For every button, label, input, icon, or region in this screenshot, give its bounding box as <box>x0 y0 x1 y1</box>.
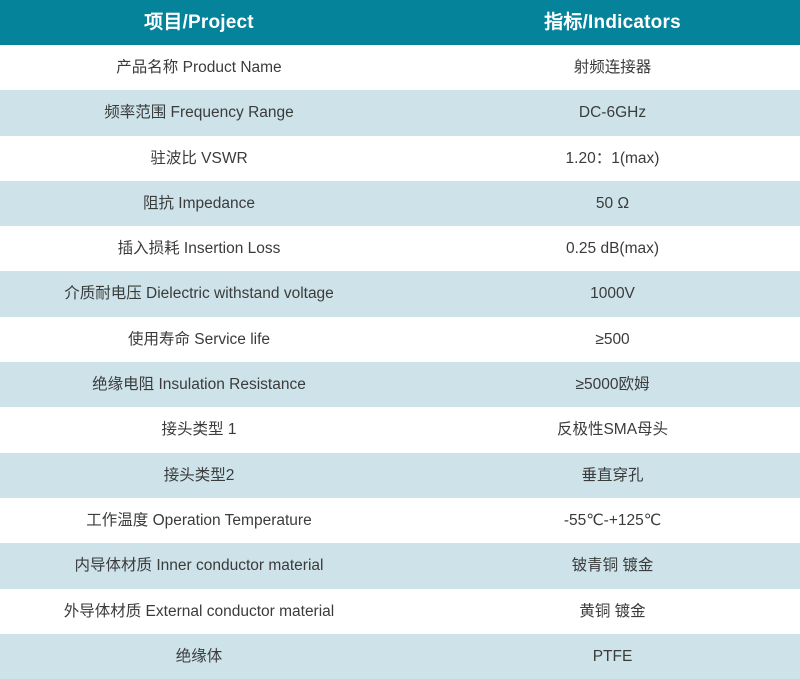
table-cell-indicator: 1000V <box>414 271 800 316</box>
column-divider <box>398 181 414 226</box>
table-row: 绝缘电阻 Insulation Resistance≥5000欧姆 <box>0 362 800 407</box>
table-cell-indicator: 铍青铜 镀金 <box>414 543 800 588</box>
table-cell-indicator: ≥500 <box>414 317 800 362</box>
table-row: 绝缘体PTFE <box>0 634 800 679</box>
table-header-row: 项目/Project 指标/Indicators <box>0 0 800 45</box>
table-cell-indicator: 0.25 dB(max) <box>414 226 800 271</box>
table-row: 接头类型2垂直穿孔 <box>0 453 800 498</box>
column-divider <box>398 226 414 271</box>
table-cell-indicator: 1.20：1(max) <box>414 136 800 181</box>
table-row: 产品名称 Product Name射频连接器 <box>0 45 800 90</box>
column-divider <box>398 589 414 634</box>
table-cell-indicator: ≥5000欧姆 <box>414 362 800 407</box>
table-header-cell-project: 项目/Project <box>0 0 398 45</box>
table-cell-project: 介质耐电压 Dielectric withstand voltage <box>0 271 398 316</box>
table-body: 产品名称 Product Name射频连接器频率范围 Frequency Ran… <box>0 45 800 679</box>
table-cell-indicator: 射频连接器 <box>414 45 800 90</box>
table-cell-indicator: PTFE <box>414 634 800 679</box>
table-row: 外导体材质 External conductor material黄铜 镀金 <box>0 589 800 634</box>
table-cell-project: 接头类型2 <box>0 453 398 498</box>
table-row: 插入损耗 Insertion Loss0.25 dB(max) <box>0 226 800 271</box>
table-cell-project: 产品名称 Product Name <box>0 45 398 90</box>
column-divider <box>398 453 414 498</box>
table-cell-indicator: DC-6GHz <box>414 90 800 135</box>
column-divider <box>398 498 414 543</box>
table-cell-project: 工作温度 Operation Temperature <box>0 498 398 543</box>
table-cell-project: 绝缘体 <box>0 634 398 679</box>
column-divider <box>398 317 414 362</box>
table-cell-indicator: 黄铜 镀金 <box>414 589 800 634</box>
table-cell-project: 使用寿命 Service life <box>0 317 398 362</box>
table-row: 驻波比 VSWR1.20：1(max) <box>0 136 800 181</box>
column-divider <box>398 90 414 135</box>
table-row: 频率范围 Frequency RangeDC-6GHz <box>0 90 800 135</box>
table-row: 接头类型 1反极性SMA母头 <box>0 407 800 452</box>
table-cell-project: 驻波比 VSWR <box>0 136 398 181</box>
table-cell-project: 外导体材质 External conductor material <box>0 589 398 634</box>
column-divider <box>398 0 414 45</box>
table-cell-project: 绝缘电阻 Insulation Resistance <box>0 362 398 407</box>
table-row: 阻抗 Impedance50 Ω <box>0 181 800 226</box>
table-cell-indicator: -55℃-+125℃ <box>414 498 800 543</box>
table-cell-project: 频率范围 Frequency Range <box>0 90 398 135</box>
table-cell-indicator: 50 Ω <box>414 181 800 226</box>
table-cell-indicator: 反极性SMA母头 <box>414 407 800 452</box>
column-divider <box>398 271 414 316</box>
column-divider <box>398 407 414 452</box>
specification-table: 项目/Project 指标/Indicators 产品名称 Product Na… <box>0 0 800 679</box>
column-divider <box>398 543 414 588</box>
table-row: 使用寿命 Service life≥500 <box>0 317 800 362</box>
table-row: 工作温度 Operation Temperature-55℃-+125℃ <box>0 498 800 543</box>
table-cell-indicator: 垂直穿孔 <box>414 453 800 498</box>
table-cell-project: 阻抗 Impedance <box>0 181 398 226</box>
table-row: 内导体材质 Inner conductor material铍青铜 镀金 <box>0 543 800 588</box>
column-divider <box>398 136 414 181</box>
column-divider <box>398 362 414 407</box>
table-cell-project: 接头类型 1 <box>0 407 398 452</box>
table-cell-project: 内导体材质 Inner conductor material <box>0 543 398 588</box>
column-divider <box>398 634 414 679</box>
table-cell-project: 插入损耗 Insertion Loss <box>0 226 398 271</box>
table-row: 介质耐电压 Dielectric withstand voltage1000V <box>0 271 800 316</box>
column-divider <box>398 45 414 90</box>
table-header-cell-indicator: 指标/Indicators <box>414 0 800 45</box>
